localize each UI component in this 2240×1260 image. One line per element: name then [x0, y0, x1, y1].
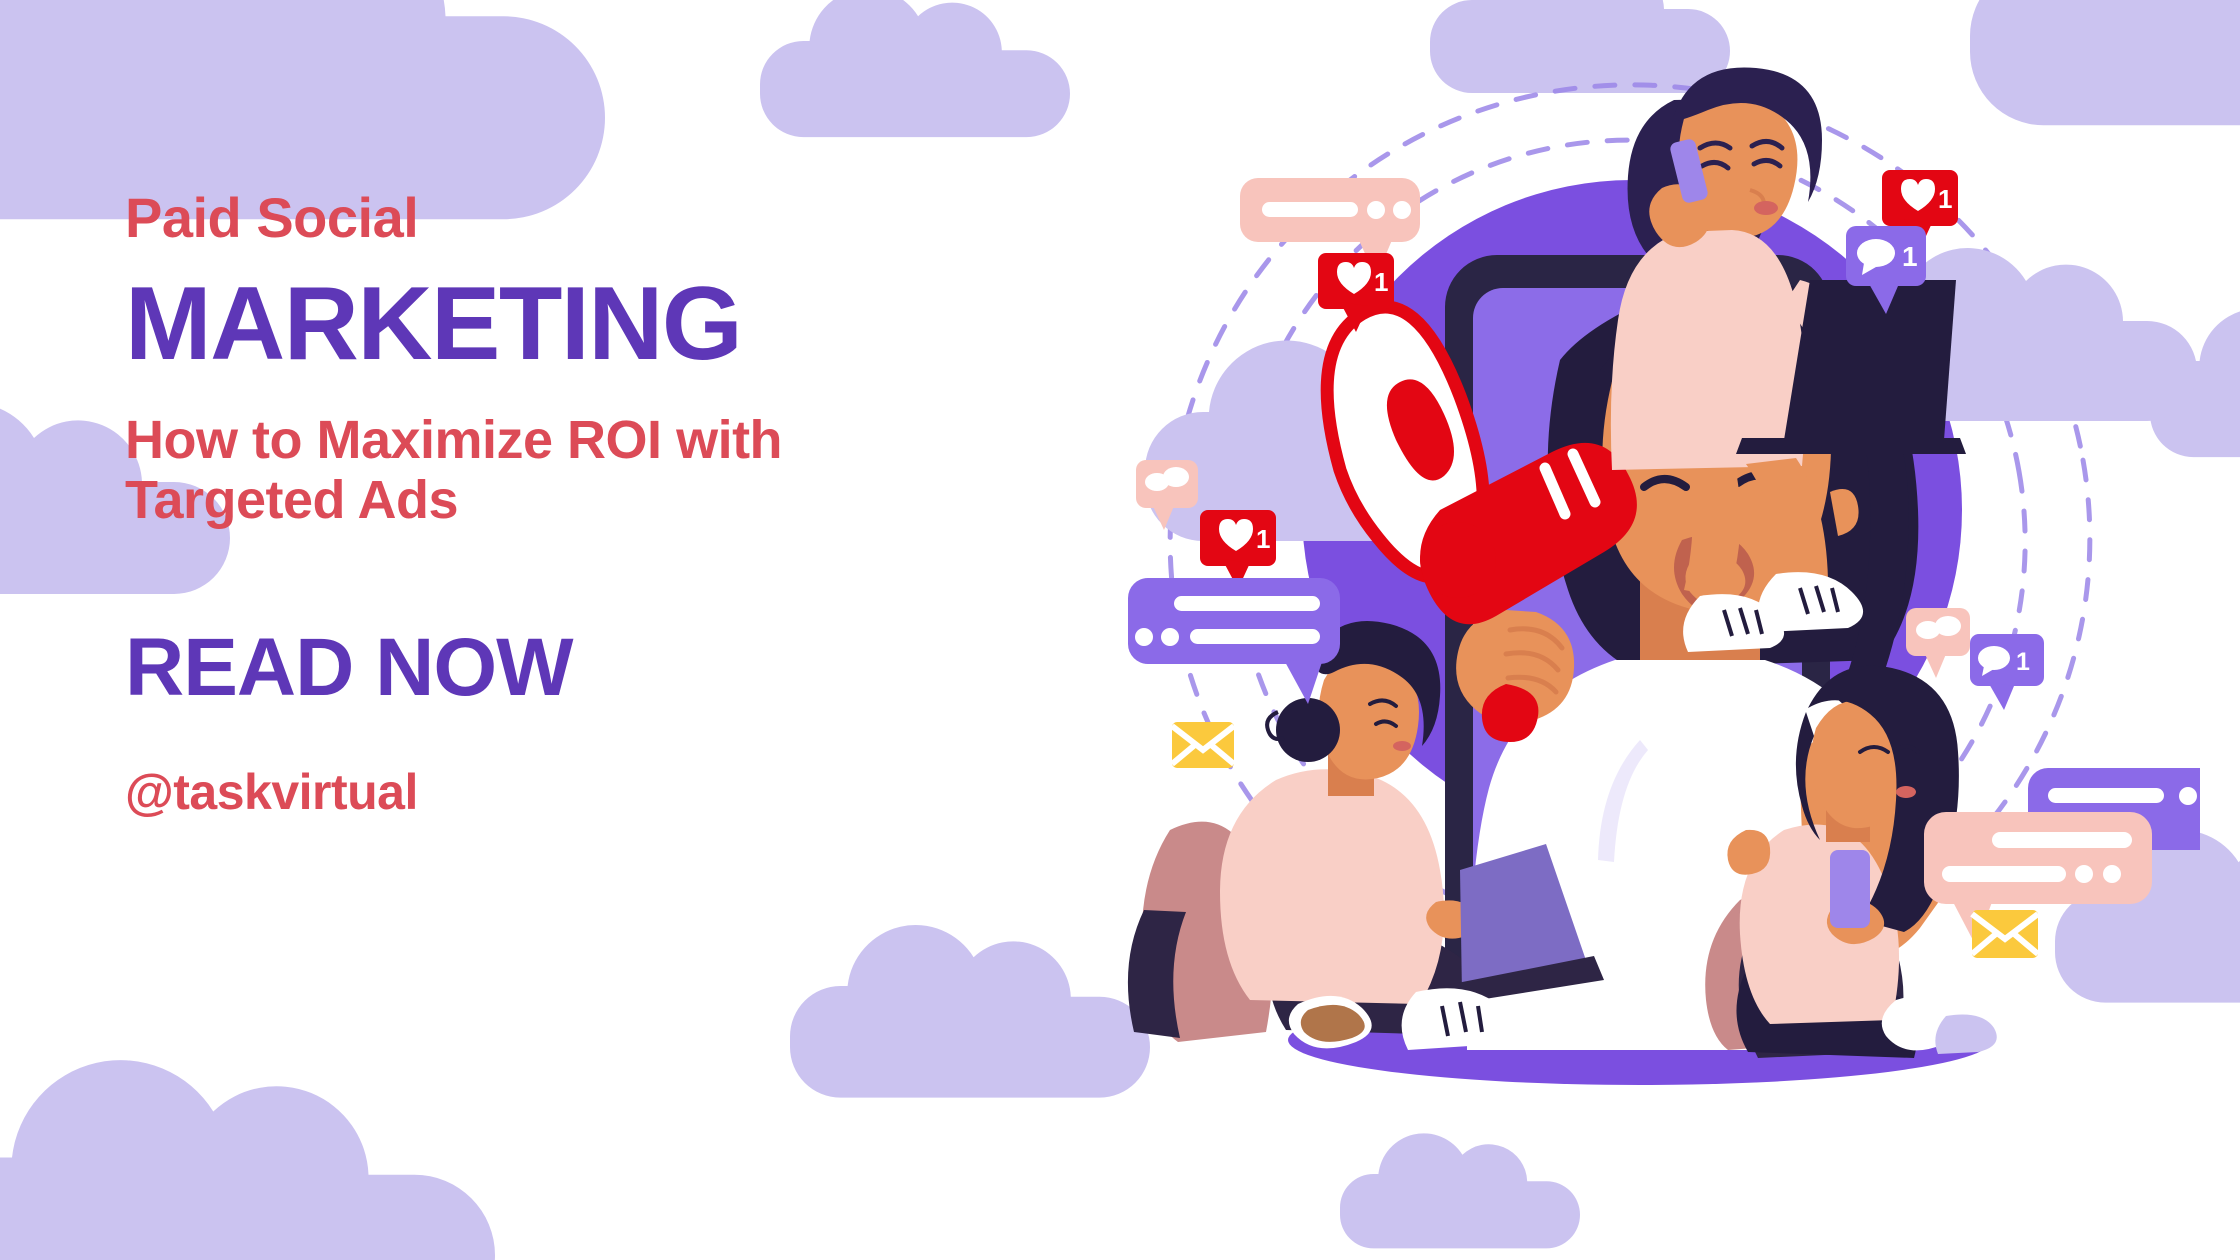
read-now-cta[interactable]: READ NOW — [125, 627, 935, 709]
badge-count: 1 — [1902, 241, 1918, 272]
badge-count: 1 — [1374, 267, 1388, 297]
social-handle[interactable]: @taskvirtual — [125, 767, 935, 817]
subheadline: How to Maximize ROI with Targeted Ads — [125, 410, 805, 531]
badge-count: 1 — [1256, 524, 1270, 554]
page-title: MARKETING — [125, 272, 935, 376]
eyebrow-text: Paid Social — [125, 190, 935, 246]
cloud-bottom-left — [0, 1060, 495, 1260]
sock-right — [1882, 996, 1997, 1054]
cloud-top-center-left — [760, 0, 1070, 137]
social-media-illustration: 1 1 — [1040, 40, 2200, 1160]
badge-count: 1 — [1938, 184, 1952, 214]
comment-icon — [1857, 239, 1895, 267]
envelope-left — [1172, 722, 1234, 768]
pink-dress — [1611, 230, 1806, 470]
envelope-right — [1972, 910, 2038, 958]
comment-badge-far-right: 1 — [1970, 634, 2044, 710]
badge-count: 1 — [2016, 648, 2030, 676]
marketing-banner: Paid Social MARKETING How to Maximize RO… — [0, 0, 2240, 1260]
held-smartphone-right — [1830, 850, 1870, 928]
chat-bubble-left — [1128, 578, 1340, 704]
headline-block: Paid Social MARKETING How to Maximize RO… — [125, 190, 935, 817]
like-badge-left: 1 — [1200, 510, 1276, 589]
